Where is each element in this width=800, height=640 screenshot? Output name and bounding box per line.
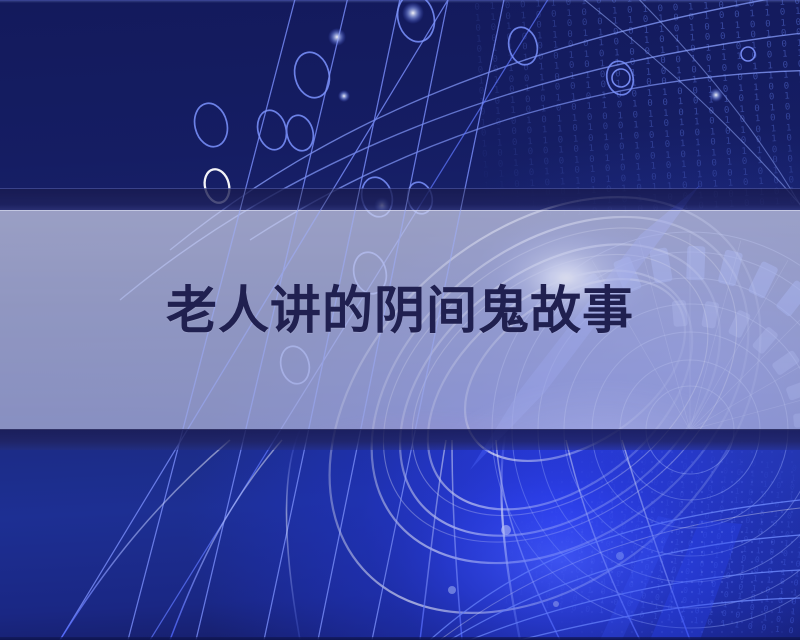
banner-image: 0 1 0 0 1 1 0 1 0 0 1 0 1 1 0 0 1 0 1 0 … xyxy=(0,0,800,640)
page-title: 老人讲的阴间鬼故事 xyxy=(0,283,800,341)
top-hairline xyxy=(0,0,800,3)
banner-top-band xyxy=(0,188,800,211)
banner-bottom-band xyxy=(0,429,800,450)
